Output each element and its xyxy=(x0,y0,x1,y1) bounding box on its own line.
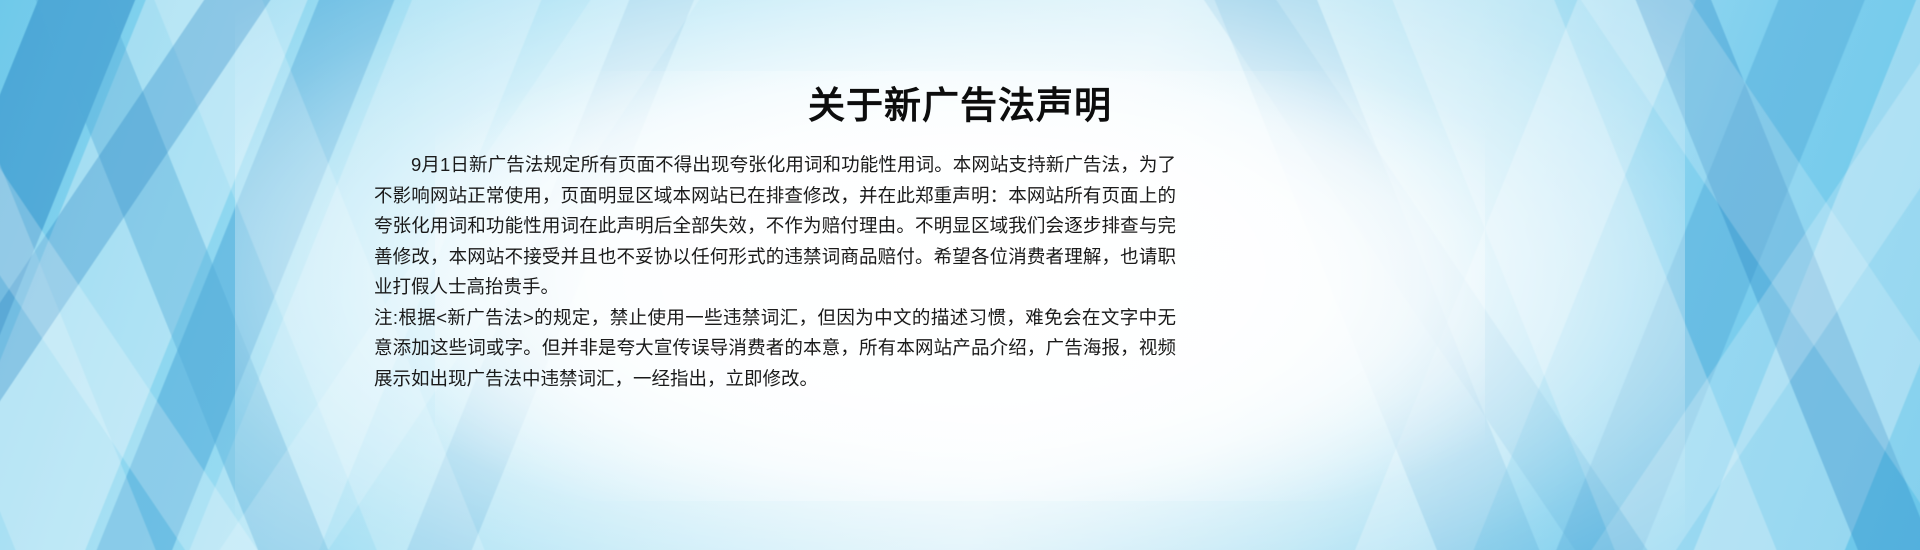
advertising-law-statement-banner: 关于新广告法声明 9月1日新广告法规定所有页面不得出现夸张化用词和功能性用词。本… xyxy=(0,0,1920,550)
statement-content: 关于新广告法声明 9月1日新广告法规定所有页面不得出现夸张化用词和功能性用词。本… xyxy=(0,0,1920,550)
statement-body: 9月1日新广告法规定所有页面不得出现夸张化用词和功能性用词。本网站支持新广告法，… xyxy=(374,150,1176,394)
statement-paragraph-1: 9月1日新广告法规定所有页面不得出现夸张化用词和功能性用词。本网站支持新广告法，… xyxy=(374,150,1176,303)
page-title: 关于新广告法声明 xyxy=(0,84,1920,128)
statement-paragraph-2: 注:根据<新广告法>的规定，禁止使用一些违禁词汇，但因为中文的描述习惯，难免会在… xyxy=(374,303,1176,395)
